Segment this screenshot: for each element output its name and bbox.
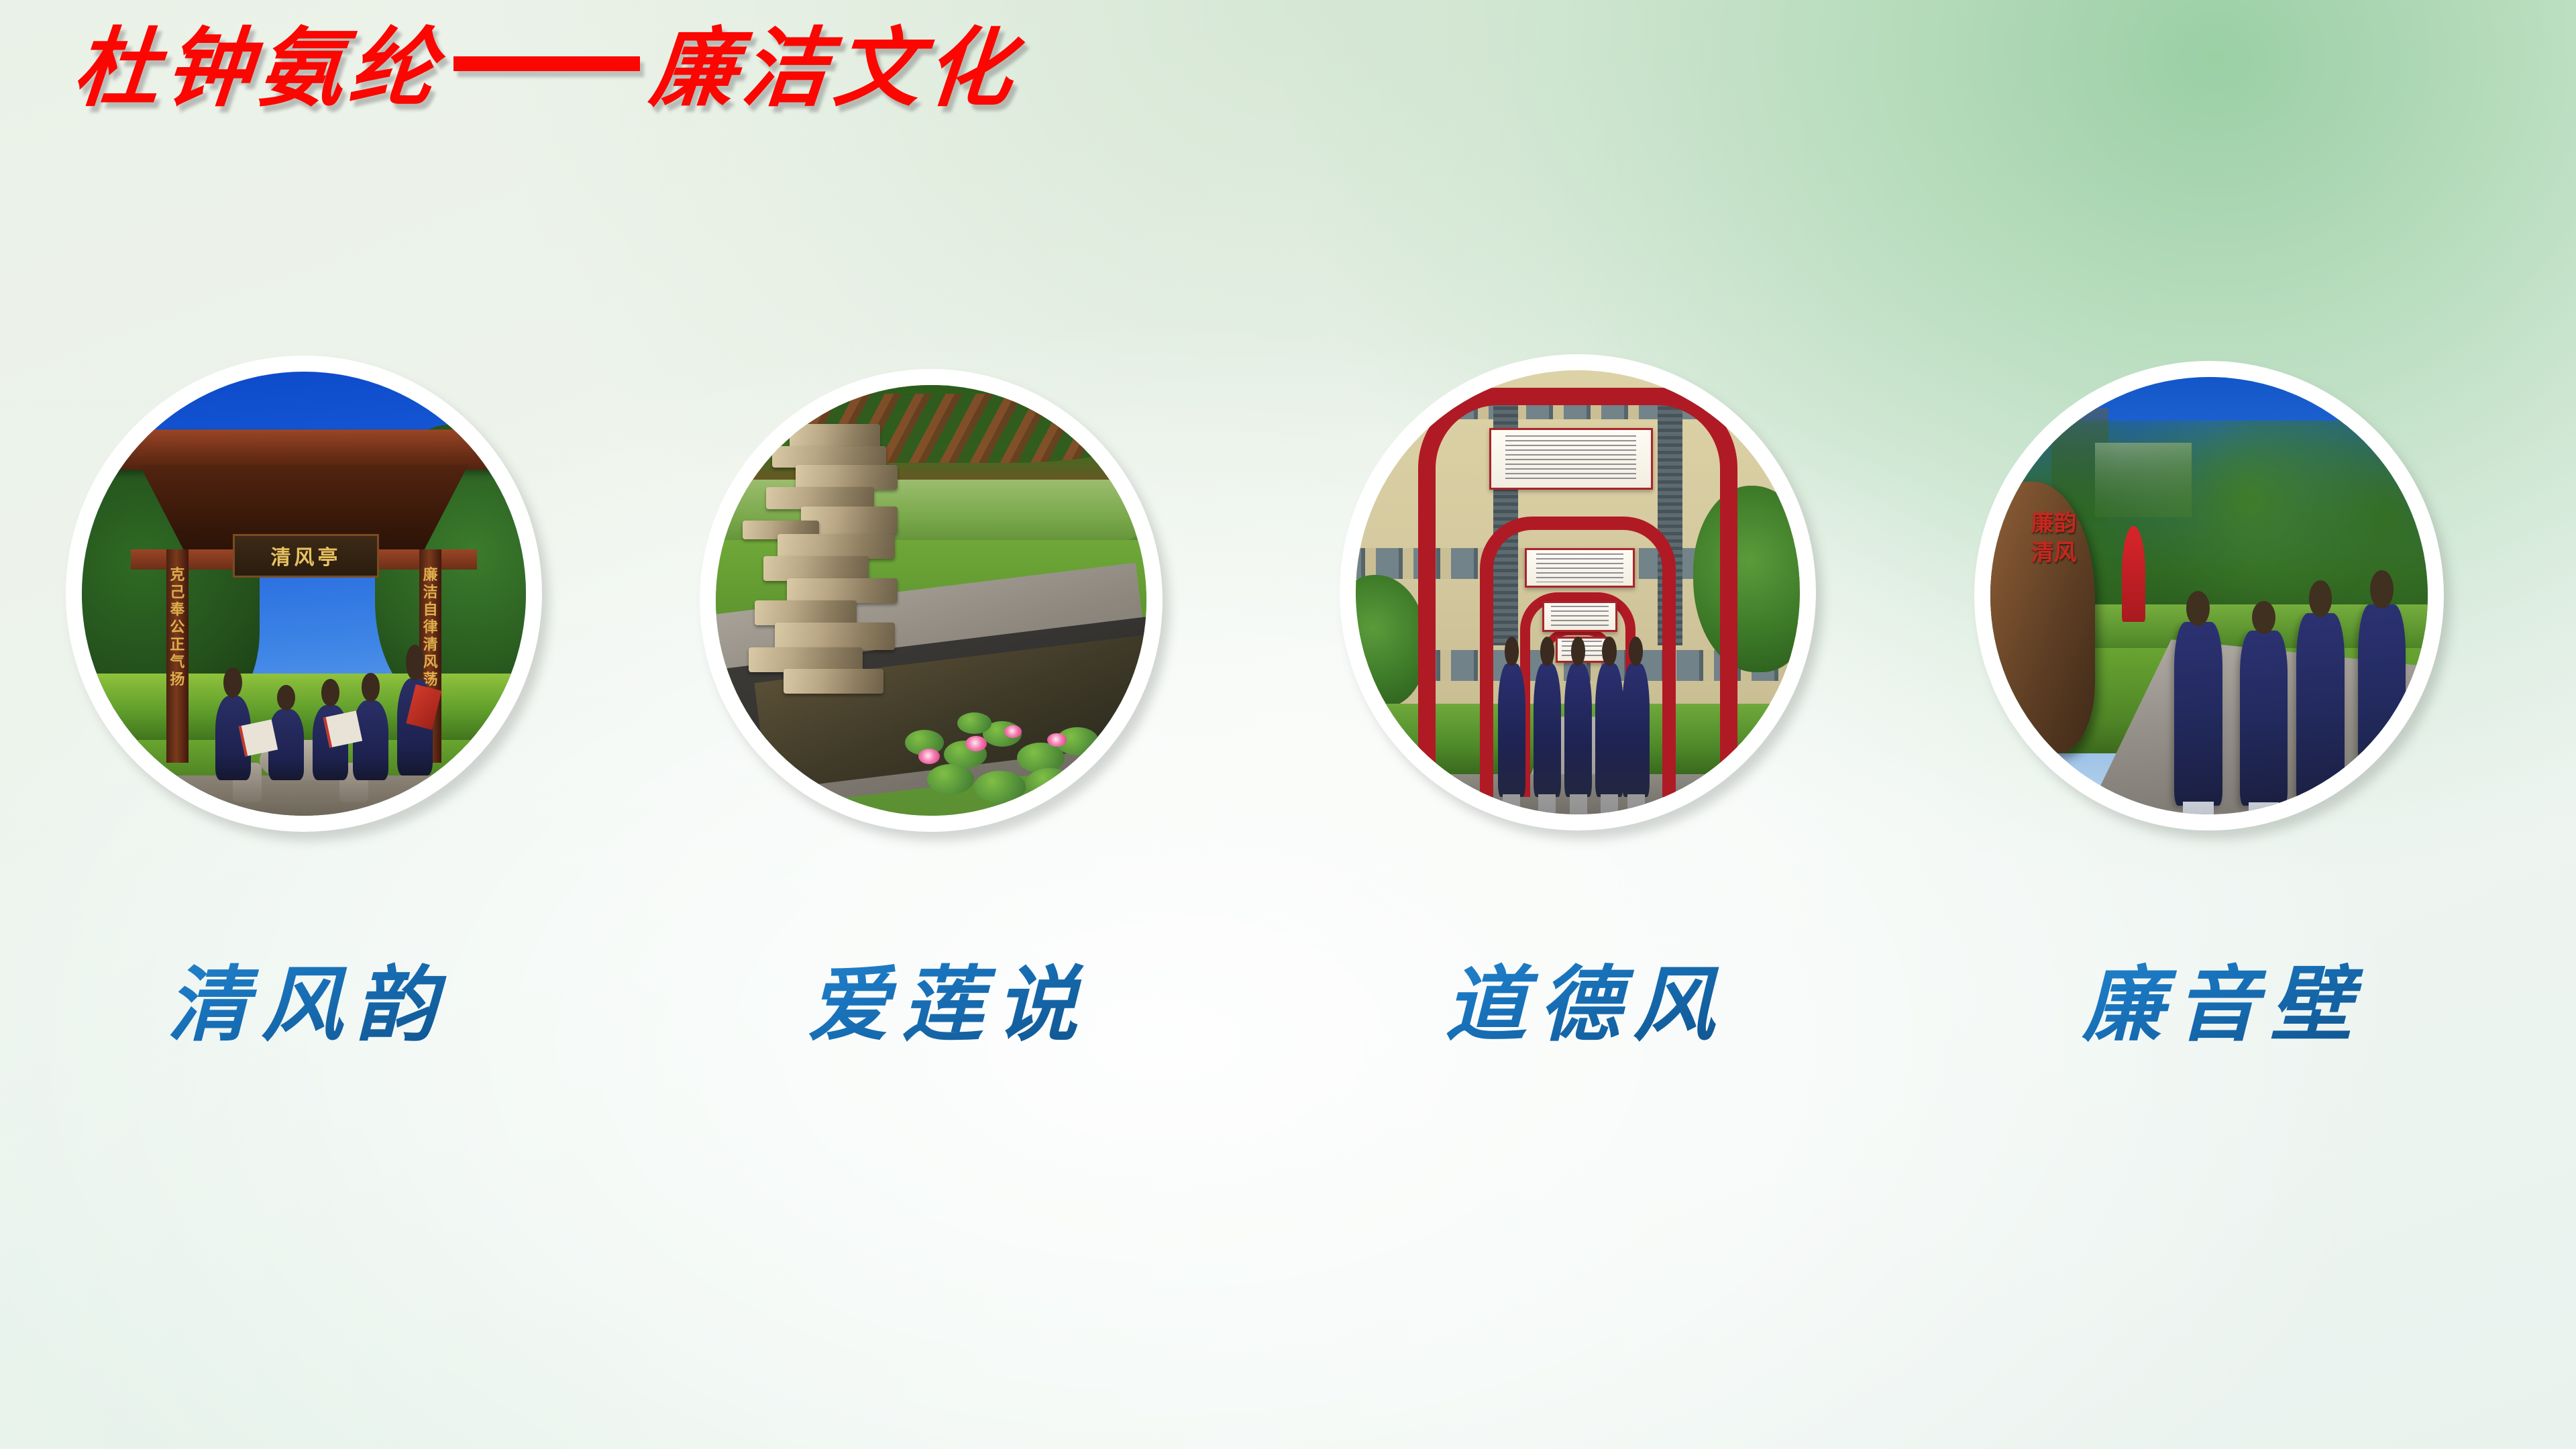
red-arch-marker xyxy=(2122,526,2146,622)
pavilion-plaque: 清风亭 xyxy=(233,534,379,578)
slide-title: 杜钟氨纶 廉洁文化 xyxy=(74,12,1018,125)
display-board-2 xyxy=(1525,548,1635,588)
stone-inscription: 廉韵清风 xyxy=(2030,508,2078,568)
gallery-caption-3: 道德风 xyxy=(1325,949,1835,1060)
photo-frame-3[interactable] xyxy=(1340,354,1816,830)
qingfeng-pavilion-photo: 清风亭 克己奉公正气扬 廉洁自律清风荡 xyxy=(82,372,526,816)
photo-frame-1[interactable]: 清风亭 克己奉公正气扬 廉洁自律清风荡 xyxy=(66,356,542,832)
pavilion-couplet-left: 克己奉公正气扬 xyxy=(168,567,186,689)
photo-frame-4[interactable]: 廉韵清风 xyxy=(1974,361,2444,830)
title-dash xyxy=(453,56,640,71)
photo-frame-2[interactable] xyxy=(700,369,1163,832)
pavilion-couplet-right: 廉洁自律清风荡 xyxy=(421,567,440,689)
lotus-pond-rockery-photo xyxy=(716,385,1146,816)
title-left-text: 杜钟氨纶 xyxy=(69,12,447,125)
title-right-text: 廉洁文化 xyxy=(646,12,1024,125)
rockery xyxy=(763,424,910,700)
gallery-caption-4: 廉音壁 xyxy=(1962,949,2472,1060)
slide-canvas: 杜钟氨纶 廉洁文化 xyxy=(0,0,2576,1449)
display-board-3 xyxy=(1542,601,1617,632)
red-arch-corridor-photo xyxy=(1356,370,1800,814)
inscribed-stone-photo: 廉韵清风 xyxy=(1990,377,2428,814)
display-board-1 xyxy=(1489,428,1653,490)
photo-gallery-row: 清风亭 克己奉公正气扬 廉洁自律清风荡 xyxy=(0,0,2576,1449)
gallery-caption-2: 爱莲说 xyxy=(688,949,1197,1060)
gallery-caption-1: 清风韵 xyxy=(47,949,557,1060)
